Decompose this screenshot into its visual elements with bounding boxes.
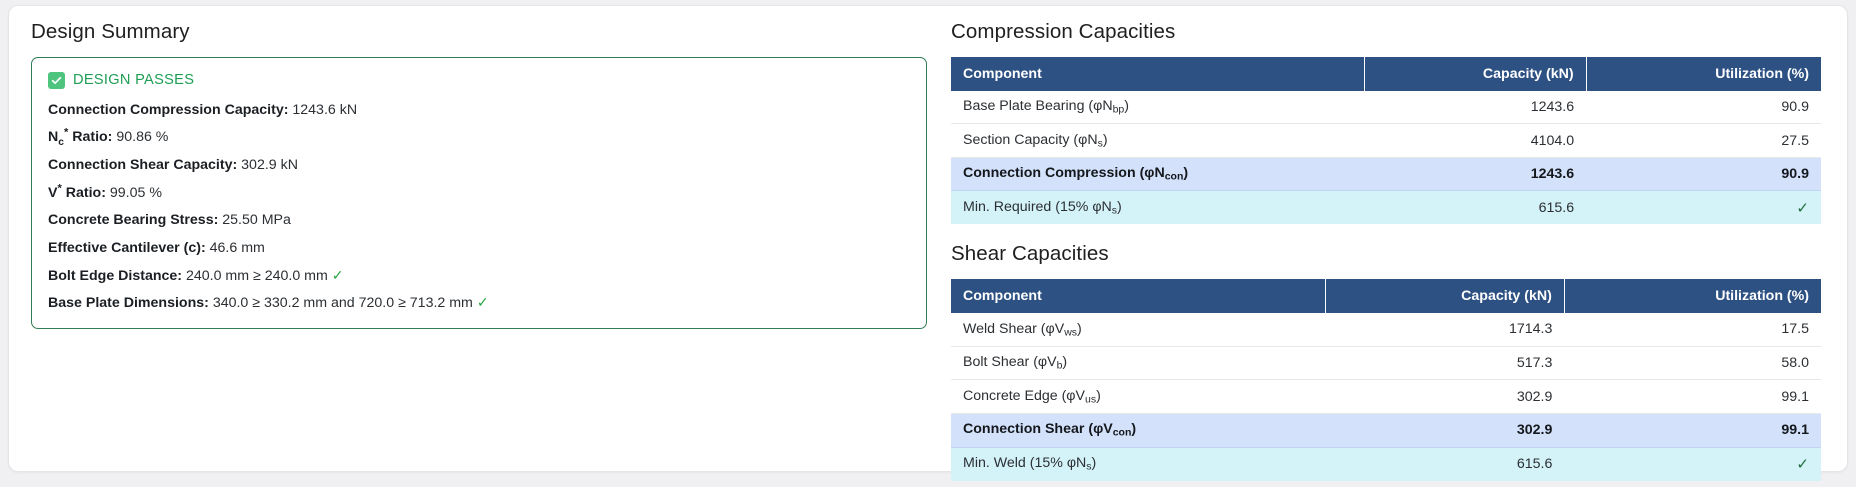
compression-capacities-title: Compression Capacities <box>951 20 1821 45</box>
check-icon: ✓ <box>1796 456 1809 473</box>
two-column-layout: Design Summary DESIGN PASSES Connection … <box>9 6 1847 471</box>
check-icon: ✓ <box>1796 200 1809 217</box>
summary-item-value: 90.86 % <box>116 129 168 145</box>
table-row: Section Capacity (φNs) 4104.0 27.5 <box>951 124 1821 158</box>
cell-utilization: 99.1 <box>1564 413 1821 447</box>
status-badge: DESIGN PASSES <box>48 72 910 89</box>
table-row: Weld Shear (φVws) 1714.3 17.5 <box>951 313 1821 346</box>
summary-item-v-ratio: V* Ratio: 99.05 % <box>48 182 910 204</box>
table-row-total: Connection Compression (φNcon) 1243.6 90… <box>951 157 1821 191</box>
summary-item-bolt-edge-distance: Bolt Edge Distance: 240.0 mm ≥ 240.0 mm … <box>48 265 910 287</box>
table-row-min-required: Min. Required (15% φNs) 615.6 ✓ <box>951 191 1821 225</box>
column-header-capacity: Capacity (kN) <box>1325 279 1564 313</box>
table-row: Bolt Shear (φVb) 517.3 58.0 <box>951 346 1821 380</box>
cell-capacity: 1243.6 <box>1364 157 1586 191</box>
cell-utilization: 17.5 <box>1564 313 1821 346</box>
column-header-component: Component <box>951 279 1325 313</box>
summary-item-label: Connection Compression Capacity: <box>48 102 288 118</box>
cell-capacity: 1243.6 <box>1364 91 1586 124</box>
status-badge-label: DESIGN PASSES <box>73 72 194 88</box>
cell-utilization: 90.9 <box>1586 91 1821 124</box>
summary-item-label: Bolt Edge Distance: <box>48 268 182 284</box>
cell-component: Concrete Edge (φVus) <box>951 380 1325 414</box>
results-card: Design Summary DESIGN PASSES Connection … <box>8 5 1848 472</box>
cell-component: Bolt Shear (φVb) <box>951 346 1325 380</box>
cell-utilization: 27.5 <box>1586 124 1821 158</box>
cell-utilization: ✓ <box>1564 447 1821 481</box>
summary-item-label: Effective Cantilever (c): <box>48 240 206 256</box>
table-body: Weld Shear (φVws) 1714.3 17.5 Bolt Shear… <box>951 313 1821 481</box>
summary-item-effective-cantilever: Effective Cantilever (c): 46.6 mm <box>48 237 910 259</box>
screenshot-root: Design Summary DESIGN PASSES Connection … <box>0 0 1856 487</box>
cell-capacity: 615.6 <box>1364 191 1586 225</box>
cell-component: Section Capacity (φNs) <box>951 124 1364 158</box>
cell-capacity: 302.9 <box>1325 380 1564 414</box>
shear-capacities-table: Component Capacity (kN) Utilization (%) … <box>951 279 1821 481</box>
summary-item-base-plate-dimensions: Base Plate Dimensions: 340.0 ≥ 330.2 mm … <box>48 292 910 314</box>
summary-item-value: 302.9 kN <box>241 157 298 173</box>
cell-capacity: 4104.0 <box>1364 124 1586 158</box>
column-header-utilization: Utilization (%) <box>1586 57 1821 91</box>
table-row: Base Plate Bearing (φNbp) 1243.6 90.9 <box>951 91 1821 124</box>
capacities-column: Compression Capacities Component Capacit… <box>951 20 1825 471</box>
summary-item-bearing-stress: Concrete Bearing Stress: 25.50 MPa <box>48 209 910 231</box>
cell-component: Weld Shear (φVws) <box>951 313 1325 346</box>
summary-item-value: 340.0 ≥ 330.2 mm and 720.0 ≥ 713.2 mm <box>213 295 473 311</box>
summary-item-label: V* Ratio: <box>48 185 106 201</box>
table-header: Component Capacity (kN) Utilization (%) <box>951 57 1821 91</box>
summary-item-value: 25.50 MPa <box>222 212 291 228</box>
cell-utilization: 58.0 <box>1564 346 1821 380</box>
cell-component: Base Plate Bearing (φNbp) <box>951 91 1364 124</box>
summary-item-shear-capacity: Connection Shear Capacity: 302.9 kN <box>48 154 910 176</box>
check-icon: ✓ <box>477 294 489 310</box>
summary-item-label: Connection Shear Capacity: <box>48 157 237 173</box>
design-pass-box: DESIGN PASSES Connection Compression Cap… <box>31 57 927 330</box>
cell-capacity: 1714.3 <box>1325 313 1564 346</box>
table-header: Component Capacity (kN) Utilization (%) <box>951 279 1821 313</box>
column-header-capacity: Capacity (kN) <box>1364 57 1586 91</box>
summary-item-compression-capacity: Connection Compression Capacity: 1243.6 … <box>48 99 910 121</box>
summary-item-label: Base Plate Dimensions: <box>48 295 209 311</box>
summary-item-value: 99.05 % <box>110 185 162 201</box>
compression-capacities-table: Component Capacity (kN) Utilization (%) … <box>951 57 1821 225</box>
cell-capacity: 302.9 <box>1325 413 1564 447</box>
cell-utilization: 90.9 <box>1586 157 1821 191</box>
summary-item-label: Concrete Bearing Stress: <box>48 212 218 228</box>
summary-item-label: Nc* Ratio: <box>48 129 112 145</box>
cell-utilization: ✓ <box>1586 191 1821 225</box>
check-icon: ✓ <box>332 267 344 283</box>
cell-component: Connection Compression (φNcon) <box>951 157 1364 191</box>
shear-capacities-title: Shear Capacities <box>951 242 1821 267</box>
cell-capacity: 615.6 <box>1325 447 1564 481</box>
cell-utilization: 99.1 <box>1564 380 1821 414</box>
check-square-icon <box>48 72 65 89</box>
page-title: Design Summary <box>31 20 927 45</box>
table-header-row: Component Capacity (kN) Utilization (%) <box>951 279 1821 313</box>
table-row: Concrete Edge (φVus) 302.9 99.1 <box>951 380 1821 414</box>
cell-capacity: 517.3 <box>1325 346 1564 380</box>
cell-component: Min. Required (15% φNs) <box>951 191 1364 225</box>
column-header-component: Component <box>951 57 1364 91</box>
table-row-min-required: Min. Weld (15% φNs) 615.6 ✓ <box>951 447 1821 481</box>
column-header-utilization: Utilization (%) <box>1564 279 1821 313</box>
summary-item-value: 1243.6 kN <box>292 102 357 118</box>
cell-component: Connection Shear (φVcon) <box>951 413 1325 447</box>
summary-item-value: 240.0 mm ≥ 240.0 mm <box>186 268 328 284</box>
summary-item-nc-ratio: Nc* Ratio: 90.86 % <box>48 126 910 148</box>
summary-item-list: Connection Compression Capacity: 1243.6 … <box>48 99 910 315</box>
design-summary-column: Design Summary DESIGN PASSES Connection … <box>31 20 951 471</box>
summary-item-value: 46.6 mm <box>210 240 265 256</box>
cell-component: Min. Weld (15% φNs) <box>951 447 1325 481</box>
table-header-row: Component Capacity (kN) Utilization (%) <box>951 57 1821 91</box>
table-row-total: Connection Shear (φVcon) 302.9 99.1 <box>951 413 1821 447</box>
table-body: Base Plate Bearing (φNbp) 1243.6 90.9 Se… <box>951 91 1821 225</box>
